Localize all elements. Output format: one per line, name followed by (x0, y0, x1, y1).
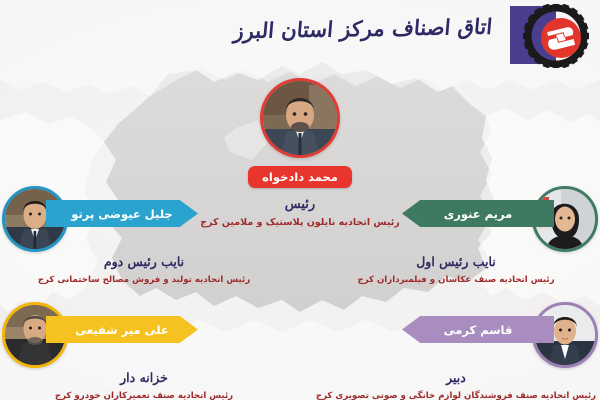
name-ribbon-president: محمد دادخواه (248, 166, 352, 188)
role-treasurer: خزانه دار (0, 370, 294, 385)
header: اتاق اصناف مرکز استان البرز (0, 0, 600, 78)
organization-treasurer: رئیس اتحادیه صنف تعمیرکاران خودرو کرج (0, 391, 294, 400)
organization-vice-president-first: رئیس اتحادیه صنف عکاسان و فیلمبرداران کر… (306, 275, 600, 285)
alborz-guild-chamber-logo (508, 4, 594, 68)
role-vice-president-first: نایب رئیس اول (306, 254, 600, 269)
name-ribbon-secretary: قاسم کرمی (402, 316, 554, 343)
role-vice-president-second: نایب رئیس دوم (0, 254, 294, 269)
page-title: اتاق اصناف مرکز استان البرز (233, 14, 494, 44)
person-card-secretary[interactable]: قاسم کرمی دبیر رئیس اتحادیه صنف فروشندگا… (306, 302, 600, 400)
person-card-vice-president-first[interactable]: مریم عنوری نایب رئیس اول رئیس اتحادیه صن… (306, 186, 600, 285)
organization-secretary: رئیس اتحادیه صنف فروشندگان لوازم خانگی و… (306, 391, 600, 400)
name-ribbon-vice-president-first: مریم عنوری (402, 200, 554, 227)
infographic-canvas: اتاق اصناف مرکز استان البرز (0, 0, 600, 400)
avatar-president (260, 78, 340, 158)
person-card-treasurer[interactable]: علی میر شفیعی خزانه دار رئیس اتحادیه صنف… (0, 302, 294, 400)
name-ribbon-treasurer: علی میر شفیعی (46, 316, 198, 343)
person-card-vice-president-second[interactable]: جلیل عیوضی پرتو نایب رئیس دوم رئیس اتحاد… (0, 186, 294, 285)
name-ribbon-vice-president-second: جلیل عیوضی پرتو (46, 200, 198, 227)
role-secretary: دبیر (306, 370, 600, 385)
organization-vice-president-second: رئیس اتحادیه تولید و فروش مصالح ساختمانی… (0, 275, 294, 285)
